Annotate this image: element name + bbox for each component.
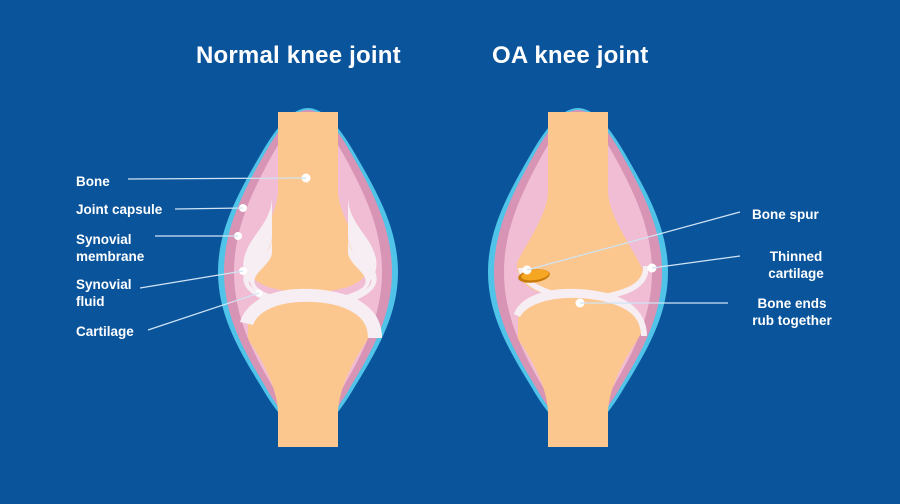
normal-knee-joint-graphic [128, 100, 398, 460]
panel-title-normal: Normal knee joint [196, 42, 401, 70]
label-thinned-cartilage: Thinned cartilage [742, 248, 850, 282]
label-bone-ends-rub-together: Bone ends rub together [730, 295, 854, 329]
panel-title-oa: OA knee joint [492, 42, 648, 70]
label-synovial-fluid: Synovial fluid [76, 276, 132, 310]
diagram-canvas: Normal knee joint OA knee joint Bone Joi… [0, 0, 900, 504]
label-synovial-membrane: Synovial membrane [76, 231, 144, 265]
label-cartilage: Cartilage [76, 323, 134, 340]
label-bone-spur: Bone spur [752, 206, 819, 223]
label-bone: Bone [76, 173, 110, 190]
oa-knee-joint-graphic [488, 100, 740, 460]
label-joint-capsule: Joint capsule [76, 201, 162, 218]
